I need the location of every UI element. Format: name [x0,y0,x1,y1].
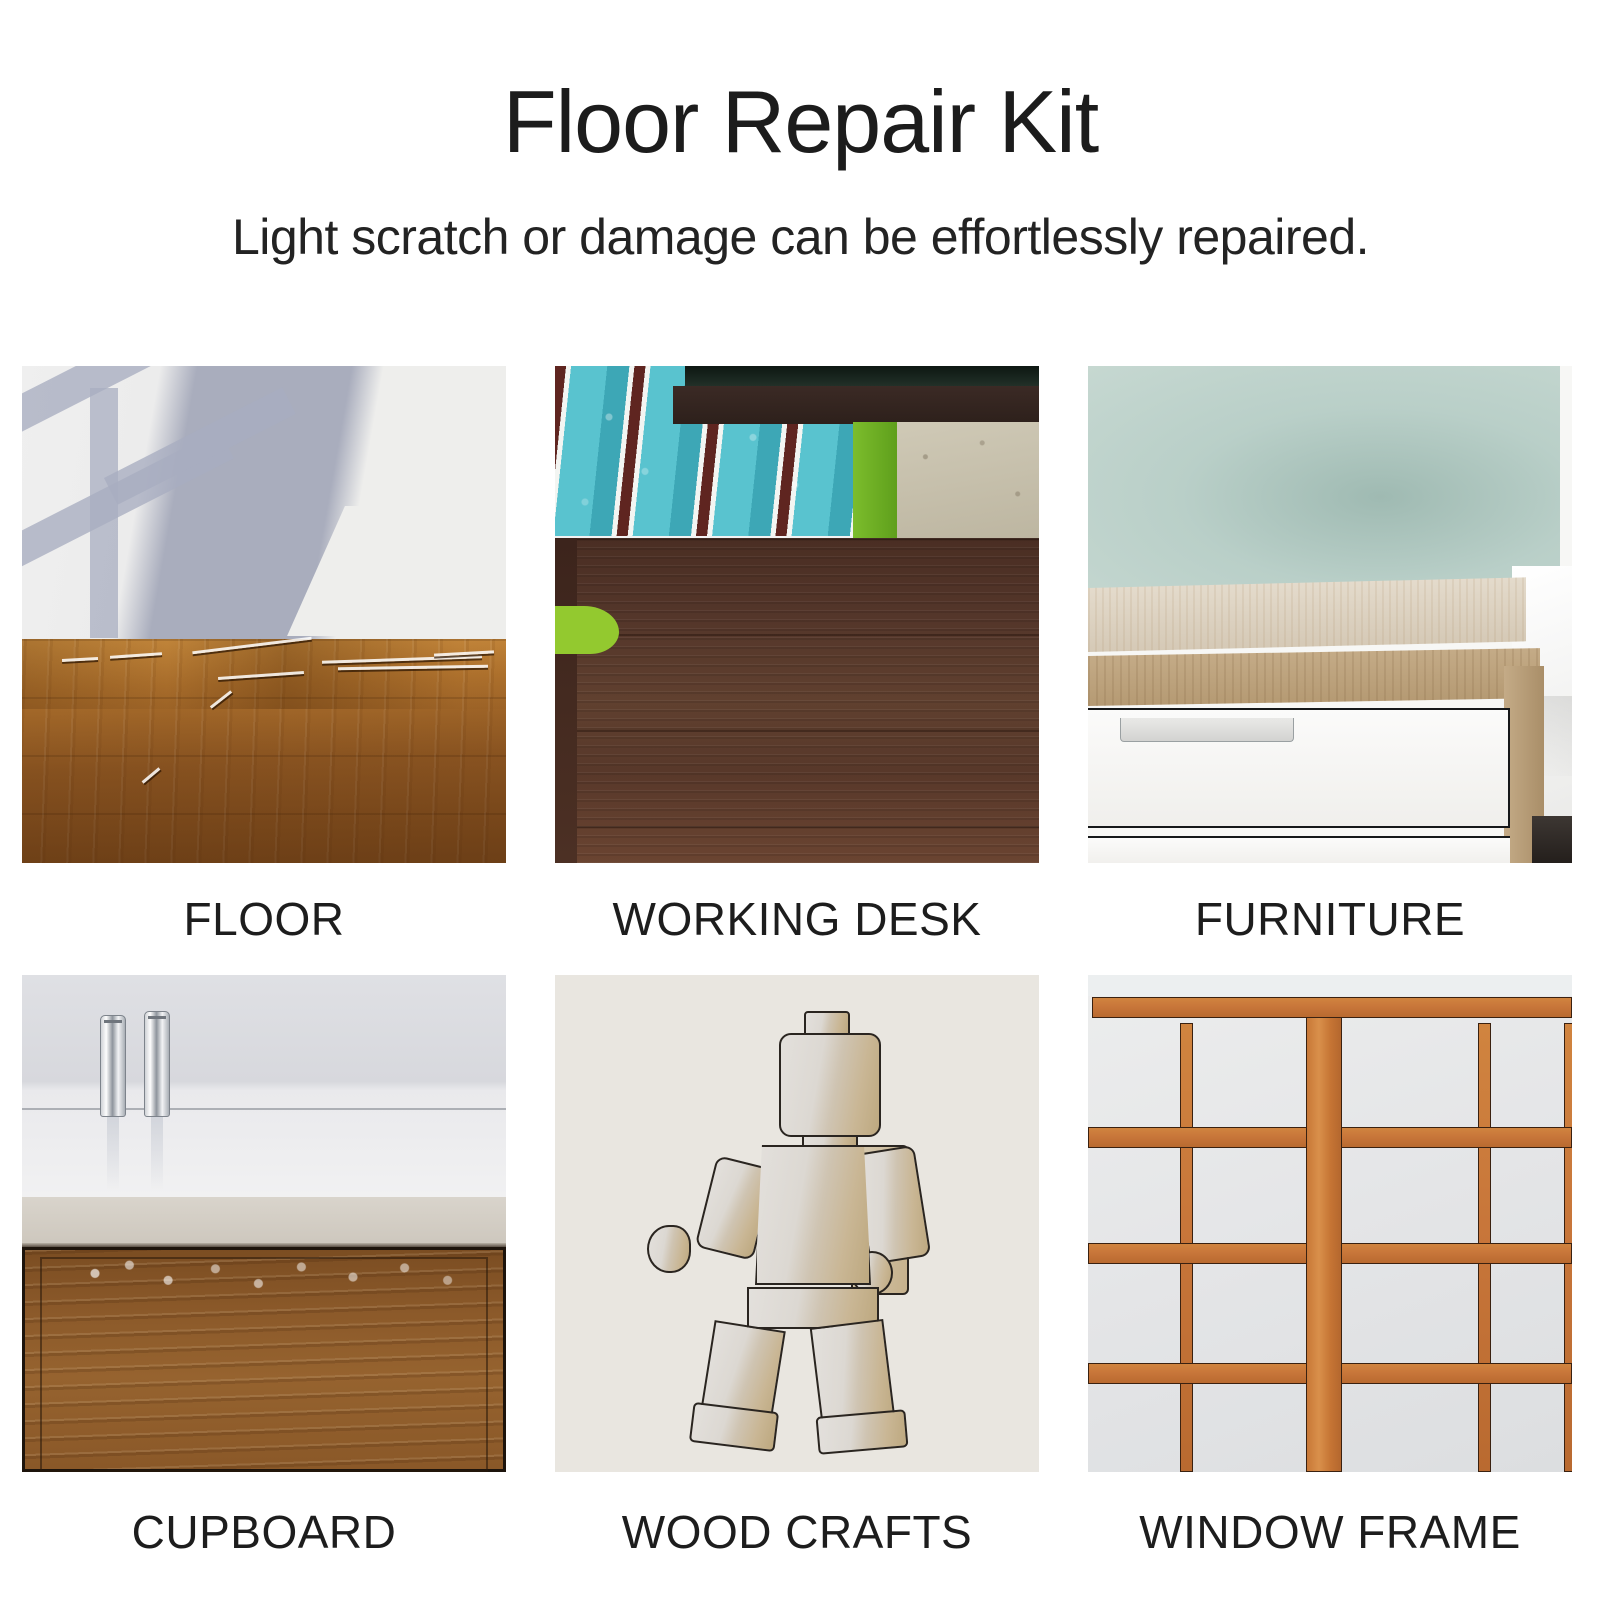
gallery-caption-cupboard: CUPBOARD [22,1472,506,1592]
container-cap [148,1016,166,1019]
shelf-line [22,1108,506,1110]
ceiling-strip [1088,975,1572,996]
nightstand-drawer-lower [1088,836,1510,863]
figure-torso [755,1145,871,1285]
cupboard-photo [22,975,506,1472]
gallery-caption-working-desk: WORKING DESK [555,863,1039,975]
window-mullion [1306,997,1342,1472]
gallery-item-floor[interactable]: FLOOR [22,366,506,975]
figure-right-foot [816,1409,909,1455]
metal-container [100,1015,126,1117]
kitchen-backsplash [22,975,506,1197]
container-cap [104,1020,122,1023]
green-object [555,606,619,654]
wooden-minifigure [555,975,1039,1472]
figure-head [779,1033,881,1137]
product-infographic: Floor Repair Kit Light scratch or damage… [0,0,1601,1601]
floor-photo [22,366,506,863]
mint-wall [1088,366,1560,592]
gallery-item-wood-crafts[interactable]: WOOD CRAFTS [555,975,1039,1592]
green-panel [853,422,897,538]
dark-shelf-top [685,366,1039,386]
working-desk-photo [555,366,1039,863]
metal-container [144,1011,170,1117]
desk-left-edge [555,538,577,863]
page-title: Floor Repair Kit [0,78,1601,166]
water-droplets [52,1255,482,1301]
beige-panel [897,422,1039,538]
gallery-item-window-frame[interactable]: WINDOW FRAME [1088,975,1572,1592]
page-subtitle: Light scratch or damage can be effortles… [0,166,1601,266]
container-reflection [107,1117,119,1191]
gallery-caption-wood-crafts: WOOD CRAFTS [555,1472,1039,1592]
dark-shelf-front [673,386,1039,424]
walnut-desk-surface [555,538,1039,863]
nightstand-edge [1088,648,1540,706]
gallery-item-working-desk[interactable]: WORKING DESK [555,366,1039,975]
bed-frame-corner [1532,816,1572,863]
gallery-item-cupboard[interactable]: CUPBOARD [22,975,506,1592]
furniture-photo [1088,366,1572,863]
figure-left-hand [647,1225,691,1273]
container-reflection [151,1117,163,1191]
gallery-caption-window-frame: WINDOW FRAME [1088,1472,1572,1592]
gallery-item-furniture[interactable]: FURNITURE [1088,366,1572,975]
counter-surface [22,1197,506,1245]
gallery-caption-floor: FLOOR [22,863,506,975]
gallery-caption-furniture: FURNITURE [1088,863,1572,975]
header: Floor Repair Kit Light scratch or damage… [0,78,1601,266]
wood-crafts-photo [555,975,1039,1472]
window-head-rail [1092,997,1572,1018]
nightstand-top [1088,577,1526,652]
drawer-handle [1120,718,1294,742]
window-frame-photo [1088,975,1572,1472]
use-case-gallery: FLOOR WORKING DESK [22,366,1572,1592]
